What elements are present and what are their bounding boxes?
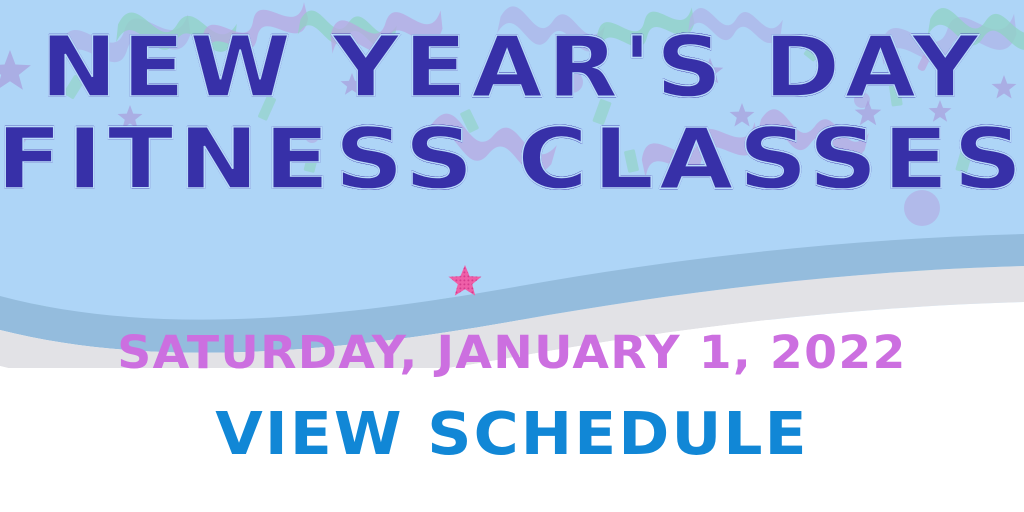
headline-line-2-text: FITNESS CLASSES	[0, 118, 1024, 200]
view-schedule-link[interactable]: VIEW SCHEDULE	[0, 404, 1024, 463]
headline-line-1-text: NEW YEAR'S DAY	[40, 26, 983, 108]
headline-block: NEW YEAR'S DAY FITNESS CLASSES	[0, 26, 1024, 201]
headline-line-2: FITNESS CLASSES	[0, 118, 1024, 200]
pink-star-icon	[447, 263, 483, 299]
headline-line-1: NEW YEAR'S DAY	[0, 26, 1024, 108]
event-date-text: SATURDAY, JANUARY 1, 2022	[0, 330, 1024, 375]
promo-banner: NEW YEAR'S DAY FITNESS CLASSES SATURDAY,…	[0, 0, 1024, 512]
